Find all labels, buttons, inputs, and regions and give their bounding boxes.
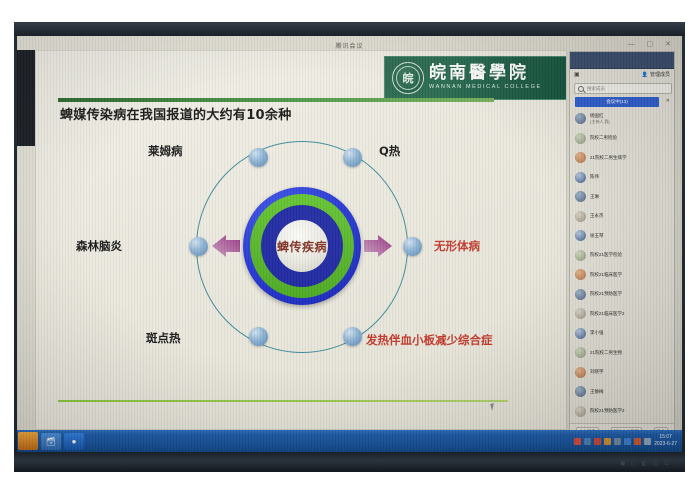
center-ring-outer: 蜱传疾病 xyxy=(243,187,361,305)
seal-glyph: 皖 xyxy=(393,63,423,93)
participant-name: 王永杰 xyxy=(590,213,604,219)
tab-in-meeting-label: 会议中(13) xyxy=(606,99,628,105)
monitor-bezel-top xyxy=(14,22,685,36)
school-name-cn: 皖南醫學院 xyxy=(429,65,542,82)
person-icon: 👤 xyxy=(642,72,648,78)
avatar xyxy=(575,386,586,397)
panel-header: ▣ 👤 管理成员 xyxy=(570,68,674,81)
arrow-right xyxy=(364,235,392,257)
mouse-cursor xyxy=(490,402,499,411)
avatar xyxy=(575,250,586,261)
taskbar[interactable]: 🗃 ● 15:07 2023-6-27 xyxy=(17,430,682,452)
presentation-slide: 皖 皖南醫學院 WANNAN MEDICAL COLLEGE 蜱媒传染病在我国报… xyxy=(36,51,566,429)
node-lyme[interactable] xyxy=(249,148,268,167)
grid-icon[interactable]: ▣ xyxy=(574,71,580,78)
avatar xyxy=(575,367,586,378)
school-logo-banner: 皖 皖南醫學院 WANNAN MEDICAL COLLEGE xyxy=(384,56,566,100)
center-disc: 蜱传疾病 xyxy=(276,220,328,272)
participant-row[interactable]: 徐玉琴 xyxy=(570,226,674,246)
participant-name: 刘晓宇 xyxy=(590,369,604,375)
taskbar-explorer-icon[interactable]: 🗃 xyxy=(41,433,61,450)
participant-row[interactable]: 院校21医学检验 xyxy=(570,246,674,266)
avatar xyxy=(575,172,586,183)
clock-date: 2023-6-27 xyxy=(654,441,677,448)
center-ring-green: 蜱传疾病 xyxy=(250,194,354,298)
participant-name: 王琳 xyxy=(590,194,599,200)
participant-name: 王静梅 xyxy=(590,389,604,395)
shield-icon[interactable] xyxy=(634,438,641,445)
avatar xyxy=(575,269,586,280)
taskbar-meeting-icon[interactable]: ● xyxy=(64,433,84,450)
participant-name: 21院校二男生物 xyxy=(590,350,622,356)
participant-name: 院校21临床医学 xyxy=(590,272,622,278)
arrow-left xyxy=(212,235,240,257)
participant-list[interactable]: 杨国红(主持人,我)院校二男检验21院校二男生病学陈伟王琳王永杰徐玉琴院校21医… xyxy=(570,109,674,399)
participant-row[interactable]: 21院校二男生物 xyxy=(570,343,674,363)
title-divider xyxy=(58,98,494,102)
panel-close-icon[interactable]: ✕ xyxy=(666,98,670,104)
participant-row[interactable]: 杨国红(主持人,我) xyxy=(570,109,674,129)
node-forest-encephalitis[interactable] xyxy=(189,237,208,256)
participant-name: 院校21预防医学2 xyxy=(590,408,625,414)
app-window-title: 腾讯会议 xyxy=(17,41,682,50)
pdf-icon[interactable] xyxy=(594,438,601,445)
participant-row[interactable]: 院校21预防医学 xyxy=(570,285,674,305)
avatar xyxy=(575,406,586,417)
avatar xyxy=(575,347,586,358)
participant-row[interactable]: 王琳 xyxy=(570,187,674,207)
search-placeholder: 搜索成员 xyxy=(587,86,605,92)
tab-in-meeting[interactable]: 会议中(13) xyxy=(575,97,659,107)
label-spotted-fever: 斑点热 xyxy=(146,330,181,346)
monitor-osd-buttons[interactable]: ◼ ◻ ◧ ◫ ⏻ xyxy=(620,460,671,468)
participant-row[interactable]: 院校二男检验 xyxy=(570,129,674,149)
manage-members-button[interactable]: 👤 管理成员 xyxy=(642,71,670,78)
clock[interactable]: 15:07 2023-6-27 xyxy=(654,434,679,448)
school-seal-icon: 皖 xyxy=(392,62,424,94)
participant-row[interactable]: 院校21临床医学2 xyxy=(570,304,674,324)
monitor-icon[interactable] xyxy=(584,438,591,445)
participant-row[interactable]: 21院校二男生病学 xyxy=(570,148,674,168)
participant-name: 陈伟 xyxy=(590,174,599,180)
participant-role: (主持人,我) xyxy=(590,119,610,125)
label-q-fever: Q热 xyxy=(379,143,400,159)
school-name-en: WANNAN MEDICAL COLLEGE xyxy=(429,85,542,91)
participant-name: 院校21医学检验 xyxy=(590,252,622,258)
avatar xyxy=(575,230,586,241)
search-icon xyxy=(578,86,584,92)
participant-row[interactable]: 院校21临床医学 xyxy=(570,265,674,285)
monitor-bezel-bottom: ◼ ◻ ◧ ◫ ⏻ xyxy=(14,452,685,472)
label-sfts: 发热伴血小板减少综合症 xyxy=(366,332,493,348)
participants-panel: ▣ 👤 管理成员 搜索成员 会议中(13) ✕ 杨国红(主持人,我)院校二男检验… xyxy=(569,51,675,441)
volume-icon[interactable] xyxy=(644,438,651,445)
window-controls[interactable]: — ▢ ✕ xyxy=(628,40,676,48)
participant-row[interactable]: 李小强 xyxy=(570,324,674,344)
participant-name: 21院校二男生病学 xyxy=(590,155,627,161)
network-icon[interactable] xyxy=(624,438,631,445)
start-button[interactable] xyxy=(18,432,38,450)
monitor-photo: 腾讯会议 — ▢ ✕ 皖 皖南醫學院 WANNAN MEDICAL COLLEG… xyxy=(0,0,699,484)
participant-name: 院校二男检验 xyxy=(590,135,617,141)
node-anaplasmosis[interactable] xyxy=(403,237,422,256)
node-sfts[interactable] xyxy=(343,327,362,346)
center-ring-blue-inner: 蜱传疾病 xyxy=(261,205,343,287)
monitor-screen: 腾讯会议 — ▢ ✕ 皖 皖南醫學院 WANNAN MEDICAL COLLEG… xyxy=(17,36,682,452)
center-label: 蜱传疾病 xyxy=(277,238,327,255)
participant-name: 徐玉琴 xyxy=(590,233,604,239)
label-forest-encephalitis: 森林脑炎 xyxy=(76,238,122,254)
manage-members-label: 管理成员 xyxy=(650,71,670,78)
avatar xyxy=(575,211,586,222)
label-lyme: 莱姆病 xyxy=(148,143,183,159)
avatar xyxy=(575,191,586,202)
folder-icon[interactable] xyxy=(604,438,611,445)
panel-titlebar xyxy=(570,52,674,69)
battery-icon[interactable] xyxy=(614,438,621,445)
participant-name: 院校21预防医学 xyxy=(590,291,622,297)
node-q-fever[interactable] xyxy=(343,148,362,167)
clock-time: 15:07 xyxy=(654,434,677,441)
participant-row[interactable]: 院校21预防医学2 xyxy=(570,402,674,422)
left-window-edge xyxy=(17,50,35,146)
avatar xyxy=(575,133,586,144)
label-anaplasmosis: 无形体病 xyxy=(434,238,480,254)
avatar xyxy=(575,152,586,163)
avatar xyxy=(575,113,586,124)
participant-row[interactable]: 王静梅 xyxy=(570,382,674,402)
avatar xyxy=(575,308,586,319)
participant-row[interactable]: 王永杰 xyxy=(570,207,674,227)
tick-borne-disease-diagram: 蜱传疾病 莱姆病 Q热 森林脑炎 无形体病 斑点热 发热伴血小板减少综合症 xyxy=(36,121,566,401)
search-input[interactable]: 搜索成员 xyxy=(574,83,672,94)
participant-name: 李小强 xyxy=(590,330,604,336)
system-tray[interactable]: 15:07 2023-6-27 xyxy=(574,434,682,448)
sogou-icon[interactable] xyxy=(574,438,581,445)
participant-row[interactable]: 刘晓宇 xyxy=(570,363,674,383)
avatar xyxy=(575,328,586,339)
participant-row[interactable]: 陈伟 xyxy=(570,168,674,188)
avatar xyxy=(575,289,586,300)
node-spotted-fever[interactable] xyxy=(249,327,268,346)
participant-name: 院校21临床医学2 xyxy=(590,311,625,317)
